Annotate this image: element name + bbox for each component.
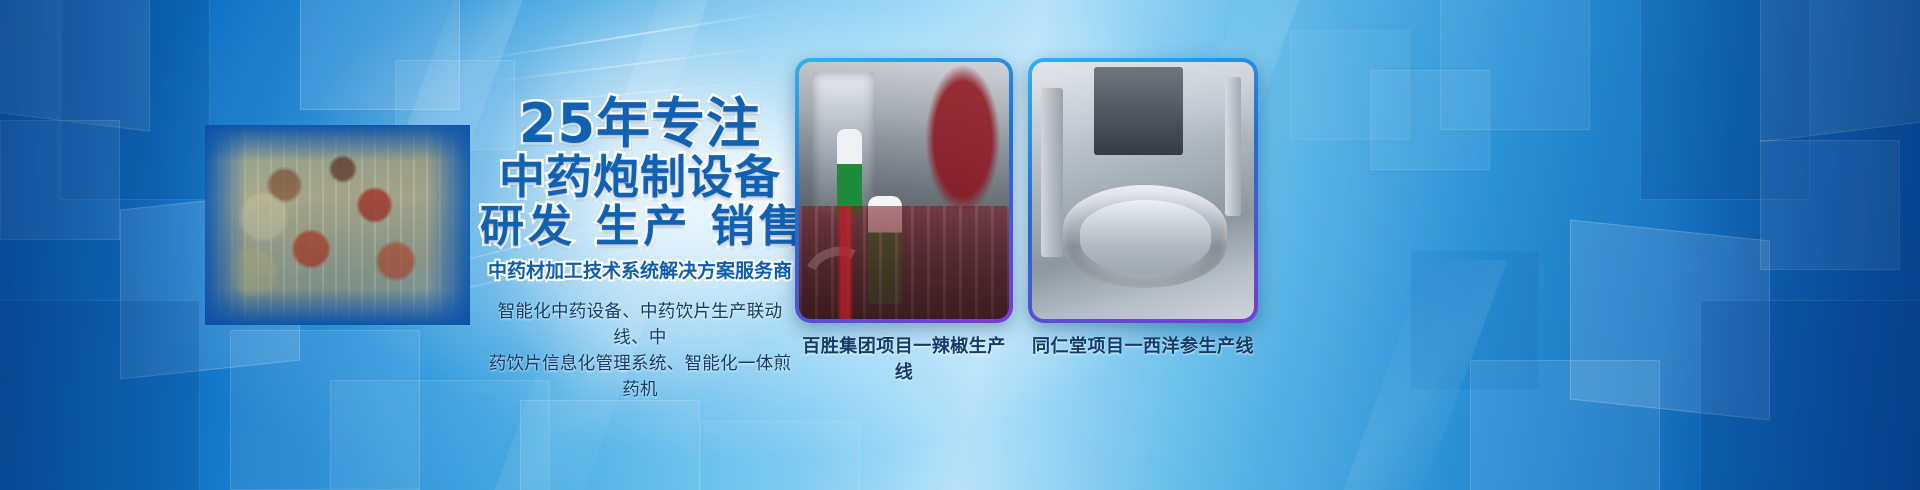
extraction-vessel [1063, 185, 1227, 288]
caption-chilli-production-line: 百胜集团项目一辣椒生产线 [795, 332, 1013, 384]
promo-banner: 25年专注 中药炮制设备 研发 生产 销售 中药材加工技术系统解决方案服务商 智… [0, 0, 1920, 490]
worker-figure-back [837, 129, 862, 216]
headline-subtitle: 中药材加工技术系统解决方案服务商 [480, 256, 800, 283]
pipe-shape [799, 238, 883, 319]
photo-ginseng-production-line [1032, 62, 1254, 319]
headline-body-line-1: 智能化中药设备、中药饮片生产联动线、中 [480, 299, 800, 352]
equipment-column-left [1041, 88, 1063, 258]
worker-figure-front [868, 196, 902, 304]
headline-block: 25年专注 中药炮制设备 研发 生产 销售 中药材加工技术系统解决方案服务商 智… [480, 96, 800, 404]
equipment-column-right [1225, 77, 1241, 216]
photo-chilli-production-line [799, 62, 1009, 319]
headline-line-2: 中药炮制设备 [480, 154, 800, 202]
caption-ginseng-production-line: 同仁堂项目一西洋参生产线 [1028, 332, 1258, 358]
headline-line-1: 25年专注 [480, 96, 800, 152]
headline-line-3: 研发 生产 销售 [480, 204, 800, 250]
photo-card-ginseng-production-line[interactable] [1028, 58, 1258, 323]
headline-body: 智能化中药设备、中药饮片生产联动线、中 药饮片信息化管理系统、智能化一体煎药机 [480, 299, 800, 404]
herbal-medicine-collage [205, 125, 470, 325]
headline-body-line-2: 药饮片信息化管理系统、智能化一体煎药机 [480, 351, 800, 404]
photo-card-chilli-production-line[interactable] [795, 58, 1013, 323]
